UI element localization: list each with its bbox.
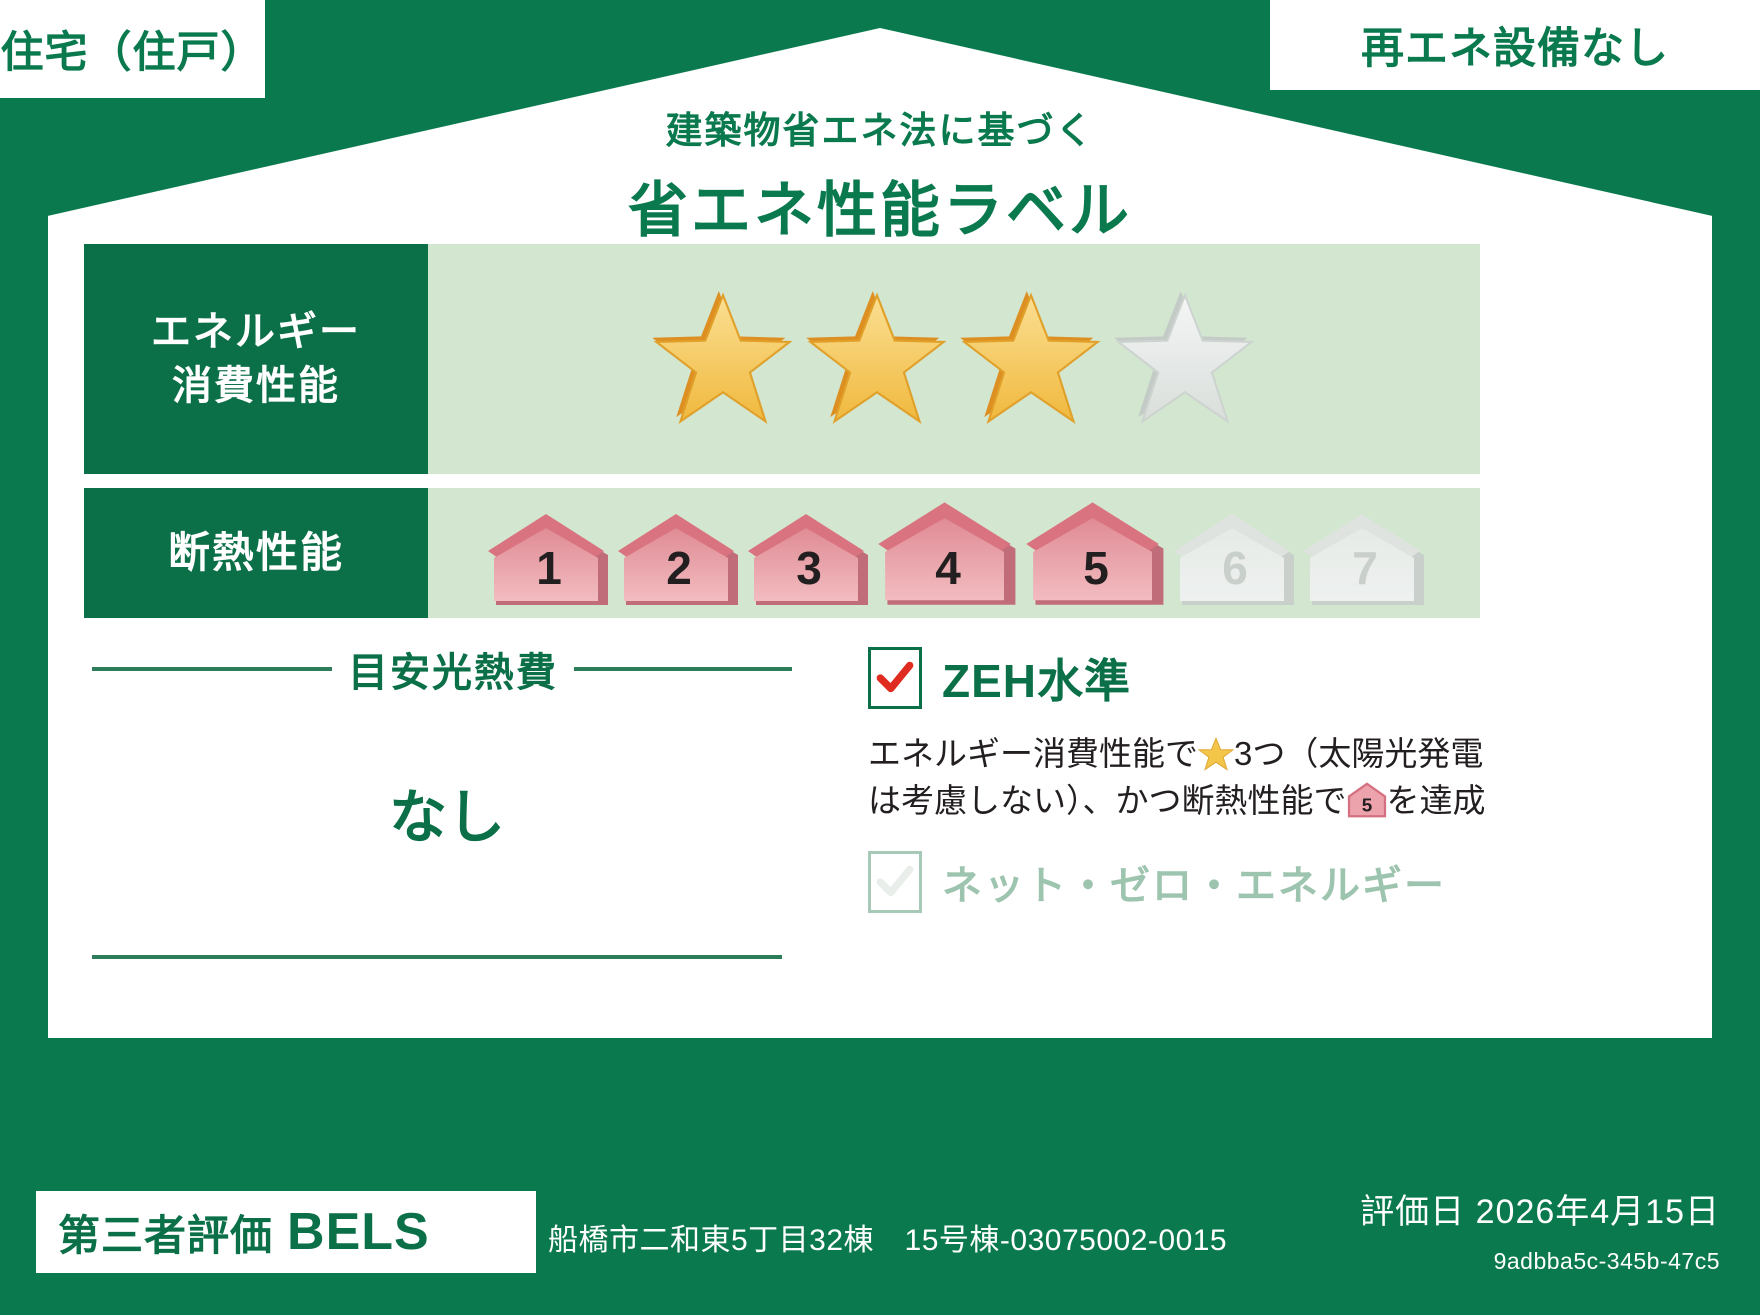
star-icon-filled <box>806 291 948 427</box>
utility-cost-bottom-divider <box>92 955 782 959</box>
insulation-level-number: 4 <box>935 541 961 607</box>
net-zero-energy-checkbox[interactable] <box>868 851 922 913</box>
zeh-title: ZEH水準 <box>942 645 1131 711</box>
zeh-desc-part4: を達成 <box>1387 782 1486 819</box>
insulation-level-number: 1 <box>536 541 562 607</box>
evaluation-date: 評価日 2026年4月15日 <box>1360 1184 1720 1233</box>
zeh-checkbox[interactable] <box>868 647 922 709</box>
insulation-level-number: 2 <box>666 541 692 607</box>
label-footer: 第三者評価 BELS 船橋市二和東5丁目32棟 15号棟-03075002-00… <box>0 1040 1760 1315</box>
property-address: 船橋市二和東5丁目32棟 15号棟-03075002-0015 <box>548 1215 1227 1259</box>
house-level-number: 5 <box>1361 796 1372 817</box>
insulation-performance-row: 断熱性能 1234567 <box>84 488 1480 618</box>
insulation-house-list: 1234567 <box>480 499 1428 607</box>
energy-performance-label: エネルギー 消費性能 <box>84 244 428 474</box>
energy-performance-row: エネルギー 消費性能 <box>84 244 1480 474</box>
zeh-desc-part2: 3つ（太陽光発電 <box>1234 735 1483 772</box>
insulation-level-7: 7 <box>1302 511 1428 607</box>
badge-dwelling-type: 住宅（住戸） <box>0 0 265 98</box>
bels-badge: 第三者評価 BELS <box>36 1191 536 1273</box>
net-zero-energy-title: ネット・ゼロ・エネルギー <box>942 853 1446 911</box>
utility-cost-amount: なし <box>92 770 792 854</box>
house-icon: 5 <box>1347 782 1387 818</box>
utility-cost-header: 目安光熱費 <box>92 640 792 698</box>
insulation-performance-label: 断熱性能 <box>84 488 428 618</box>
energy-label-line2: 消費性能 <box>172 359 340 413</box>
bels-energy-label: 住宅（住戸） 再エネ設備なし 建築物省エネ法に基づく 省エネ性能ラベル エネルギ… <box>0 0 1760 1315</box>
evaluation-date-value: 2026年4月15日 <box>1476 1193 1720 1231</box>
star-icon <box>1198 737 1234 771</box>
zeh-desc-part3: は考慮しない）、かつ断熱性能で <box>868 782 1347 819</box>
star-rating <box>428 244 1480 474</box>
star-icon-filled <box>960 291 1102 427</box>
label-title-block: 建築物省エネ法に基づく 省エネ性能ラベル <box>0 100 1760 249</box>
third-party-evaluation-label: 第三者評価 <box>58 1202 273 1263</box>
badge-renewable-equipment: 再エネ設備なし <box>1270 0 1760 90</box>
zeh-description: エネルギー消費性能で 3つ（太陽光発電 は考慮しない）、かつ断熱性能で 5 を達… <box>868 731 1488 825</box>
divider-right <box>574 667 792 671</box>
star-icon-empty <box>1114 291 1256 427</box>
title-subtitle: 建築物省エネ法に基づく <box>0 100 1760 154</box>
bels-logo: BELS <box>287 1202 430 1262</box>
insulation-level-number: 5 <box>1083 541 1109 607</box>
insulation-level-1: 1 <box>486 511 612 607</box>
insulation-level-3: 3 <box>746 511 872 607</box>
energy-label-line1: エネルギー <box>151 305 361 359</box>
insulation-level-4: 4 <box>876 499 1020 607</box>
check-icon-disabled <box>874 861 916 903</box>
label-identifier: 9adbba5c-345b-47c5 <box>1494 1248 1720 1275</box>
zeh-desc-part1: エネルギー消費性能で <box>868 735 1198 772</box>
insulation-level-number: 3 <box>796 541 822 607</box>
net-zero-energy-line: ネット・ゼロ・エネルギー <box>868 851 1488 913</box>
insulation-scale: 1234567 <box>428 488 1480 618</box>
insulation-level-number: 6 <box>1222 541 1248 607</box>
zeh-block: ZEH水準 エネルギー消費性能で 3つ（太陽光発電 は考慮しない）、かつ断熱性能… <box>868 645 1488 913</box>
insulation-level-number: 7 <box>1352 541 1378 607</box>
star-icon-filled <box>652 291 794 427</box>
insulation-level-5: 5 <box>1024 499 1168 607</box>
evaluation-date-label: 評価日 <box>1360 1193 1465 1231</box>
zeh-standard-line: ZEH水準 <box>868 645 1488 711</box>
utility-cost-block: 目安光熱費 なし <box>92 640 792 854</box>
insulation-level-2: 2 <box>616 511 742 607</box>
check-icon <box>874 657 916 699</box>
page-title: 省エネ性能ラベル <box>0 162 1760 249</box>
utility-cost-title: 目安光熱費 <box>348 640 558 698</box>
divider-left <box>92 667 332 671</box>
insulation-level-6: 6 <box>1172 511 1298 607</box>
